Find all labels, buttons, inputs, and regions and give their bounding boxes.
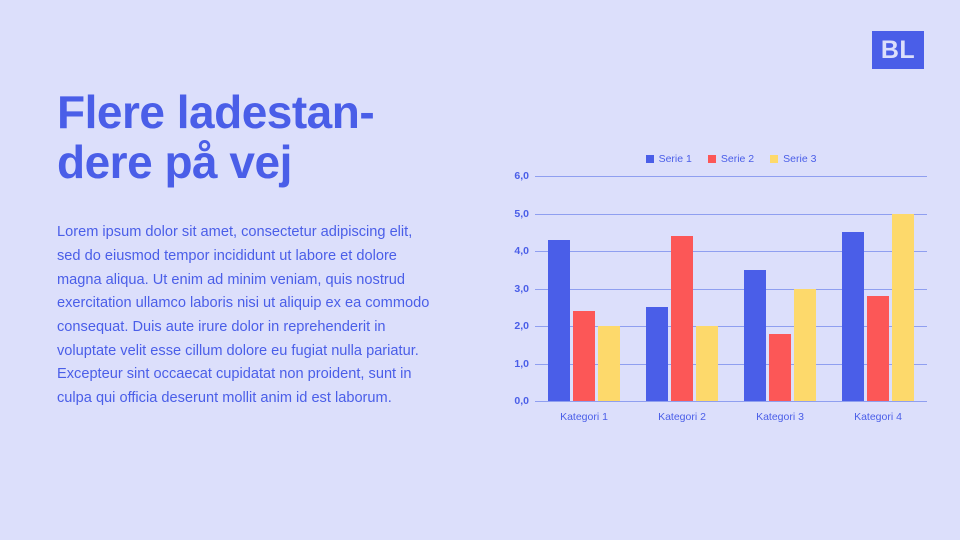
legend-swatch-icon xyxy=(708,155,716,163)
bar-group xyxy=(731,176,829,401)
y-axis-tick-label: 2,0 xyxy=(514,321,529,332)
bar-series-1[interactable] xyxy=(842,232,864,401)
bar-series-2[interactable] xyxy=(769,334,791,402)
plot-area xyxy=(535,176,927,401)
bar-group xyxy=(633,176,731,401)
legend-label: Serie 3 xyxy=(783,154,816,165)
page-title: Flere ladestan- dere på vej xyxy=(57,88,432,187)
bar-series-3[interactable] xyxy=(892,214,914,402)
x-axis-category-label: Kategori 4 xyxy=(829,402,927,423)
bar-series-3[interactable] xyxy=(696,326,718,401)
legend-item-3[interactable]: Serie 3 xyxy=(770,154,816,165)
bar-series-1[interactable] xyxy=(646,307,668,401)
bar-group xyxy=(535,176,633,401)
bar-series-1[interactable] xyxy=(548,240,570,401)
bar-series-1[interactable] xyxy=(744,270,766,401)
chart-plot-wrapper: 6,05,04,03,02,01,00,0 Kategori 1Kategori… xyxy=(495,176,927,426)
chart-legend: Serie 1Serie 2Serie 3 xyxy=(495,150,927,168)
legend-swatch-icon xyxy=(646,155,654,163)
x-axis: Kategori 1Kategori 2Kategori 3Kategori 4 xyxy=(535,402,927,423)
y-axis: 6,05,04,03,02,01,00,0 xyxy=(495,176,529,401)
legend-item-1[interactable]: Serie 1 xyxy=(646,154,692,165)
bar-group xyxy=(829,176,927,401)
y-axis-tick-label: 4,0 xyxy=(514,246,529,257)
body-paragraph: Lorem ipsum dolor sit amet, consectetur … xyxy=(57,187,432,410)
y-axis-tick-label: 5,0 xyxy=(514,208,529,219)
bar-series-3[interactable] xyxy=(794,289,816,402)
y-axis-tick-label: 3,0 xyxy=(514,283,529,294)
y-axis-tick-label: 6,0 xyxy=(514,171,529,182)
brand-logo: BL xyxy=(872,31,924,69)
y-axis-tick-label: 1,0 xyxy=(514,358,529,369)
bar-series-2[interactable] xyxy=(867,296,889,401)
y-axis-tick-label: 0,0 xyxy=(514,396,529,407)
legend-label: Serie 1 xyxy=(659,154,692,165)
legend-item-2[interactable]: Serie 2 xyxy=(708,154,754,165)
x-axis-category-label: Kategori 2 xyxy=(633,402,731,423)
x-axis-category-label: Kategori 3 xyxy=(731,402,829,423)
bar-chart: Serie 1Serie 2Serie 3 6,05,04,03,02,01,0… xyxy=(495,150,927,435)
text-column: Flere ladestan- dere på vej Lorem ipsum … xyxy=(57,88,432,410)
bar-series-2[interactable] xyxy=(573,311,595,401)
bar-series-2[interactable] xyxy=(671,236,693,401)
x-axis-category-label: Kategori 1 xyxy=(535,402,633,423)
brand-logo-text: BL xyxy=(881,38,915,63)
legend-swatch-icon xyxy=(770,155,778,163)
legend-label: Serie 2 xyxy=(721,154,754,165)
bars-layer xyxy=(535,176,927,401)
bar-series-3[interactable] xyxy=(598,326,620,401)
